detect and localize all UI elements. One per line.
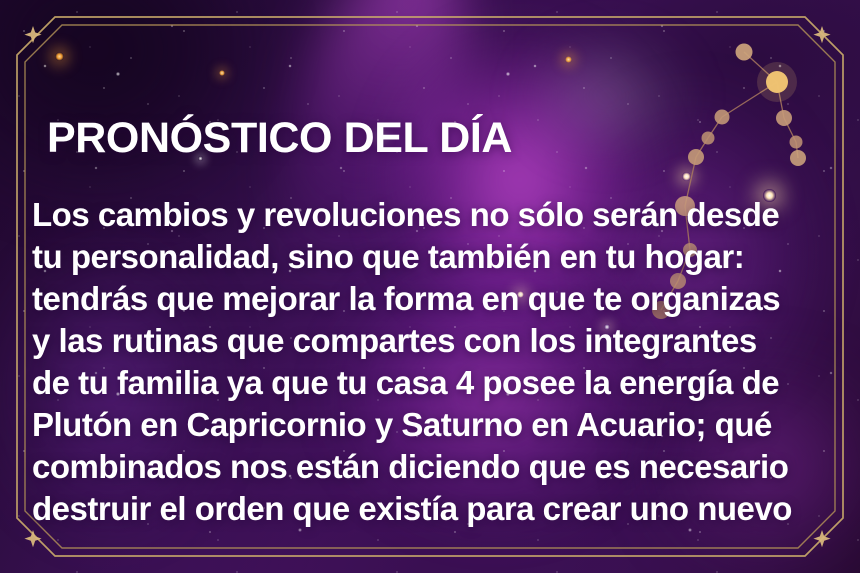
forecast-line: tendrás que mejorar la forma en que te o… — [32, 278, 832, 320]
forecast-body: Los cambios y revoluciones no sólo serán… — [32, 194, 832, 530]
forecast-line: destruir el orden que existía para crear… — [32, 488, 832, 530]
forecast-line: Los cambios y revoluciones no sólo serán… — [32, 194, 832, 236]
forecast-line: combinados nos están diciendo que es nec… — [32, 446, 832, 488]
forecast-line: Plutón en Capricornio y Saturno en Acuar… — [32, 404, 832, 446]
forecast-line: de tu familia ya que tu casa 4 posee la … — [32, 362, 832, 404]
horoscope-card: PRONÓSTICO DEL DÍA Los cambios y revoluc… — [0, 0, 860, 573]
card-content: PRONÓSTICO DEL DÍA Los cambios y revoluc… — [0, 0, 860, 573]
forecast-line: y las rutinas que compartes con los inte… — [32, 320, 832, 362]
page-title: PRONÓSTICO DEL DÍA — [47, 117, 512, 160]
forecast-line: tu personalidad, sino que también en tu … — [32, 236, 832, 278]
